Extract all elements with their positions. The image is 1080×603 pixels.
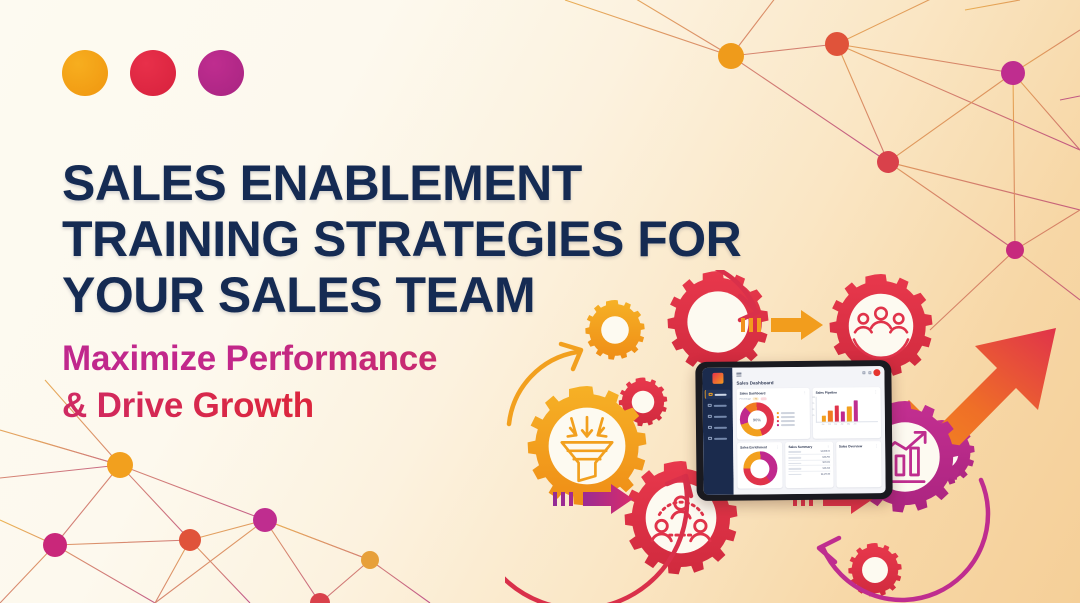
sales-pipeline-card[interactable]: Sales Pipeline ⋮ 100 75 50 25: [813, 387, 882, 439]
bar: [822, 415, 826, 422]
donut-legend: [777, 412, 795, 427]
filter-chip-comparison[interactable]: [761, 397, 767, 400]
x-tick: Feb: [827, 424, 831, 426]
brand-dot-orange: [62, 50, 108, 96]
x-tick: Jan: [821, 424, 825, 426]
sales-dashboard-card[interactable]: Sales Dashboard ⋮ Percentage % 90%: [737, 388, 811, 440]
bar-chart-x-labels: Jan Feb Mar Apr May Jun: [816, 423, 878, 426]
x-tick: Mar: [834, 424, 838, 426]
dashboard-topbar: [736, 369, 880, 378]
card-menu-icon[interactable]: ⋮: [803, 391, 807, 394]
gear-small-orange: [585, 300, 644, 360]
x-tick: Apr: [840, 423, 844, 425]
cell-value: $60,041: [822, 462, 830, 464]
sidebar-item-label: [713, 426, 727, 428]
card-menu-icon[interactable]: ⋮: [826, 445, 830, 448]
gear-team-back: [668, 271, 769, 372]
card-title: Sales Overview: [839, 444, 862, 448]
dashboard-sidebar: [702, 368, 733, 495]
tablet-device: Sales Dashboard Sales Dashboard ⋮ Percen…: [695, 360, 892, 501]
analysis-icon: [708, 415, 712, 419]
tablet-screen: Sales Dashboard Sales Dashboard ⋮ Percen…: [702, 366, 885, 495]
table-row: $4,599.00: [789, 451, 830, 455]
bar: [854, 400, 858, 421]
card-menu-icon[interactable]: ⋮: [874, 391, 878, 394]
table-row: $89,750: [789, 456, 830, 460]
donut-center-label: 90%: [753, 417, 761, 422]
dashboard-main: Sales Dashboard Sales Dashboard ⋮ Percen…: [732, 366, 885, 495]
dashboard-row-1: Sales Dashboard ⋮ Percentage % 90%: [737, 387, 882, 440]
cell-value: $4,599.00: [821, 451, 830, 453]
table-row: $60,041: [789, 462, 830, 466]
card-title: Sales Dashboard: [740, 391, 766, 395]
topbar-tools: [862, 369, 880, 376]
table-row: $6,673.50: [789, 473, 830, 476]
x-tick: Jun: [853, 423, 857, 425]
sales-overview-card[interactable]: Sales Overview ⋮: [836, 441, 882, 487]
y-tick: 25: [812, 415, 814, 417]
filter-chip-percentage[interactable]: %: [753, 397, 759, 400]
card-title: Sales Pipeline: [816, 391, 837, 395]
card-menu-icon[interactable]: ⋮: [776, 446, 780, 449]
legend-item: [777, 412, 795, 415]
dashboard-row-2: Sales Enrichment ⋮ Sales Summary ⋮ $4,59…: [737, 441, 881, 489]
card-filters: Percentage %: [740, 397, 807, 401]
legend-item: [777, 416, 795, 419]
app-logo-icon: [712, 373, 723, 384]
sidebar-item-label: [714, 393, 727, 395]
legend-item: [777, 420, 795, 423]
brand-dot-red: [130, 50, 176, 96]
banner-canvas: SALES ENABLEMENT TRAINING STRATEGIES FOR…: [0, 0, 1080, 603]
sidebar-item-label: [713, 404, 727, 406]
page-subtitle: Maximize Performance & Drive Growth: [62, 335, 437, 429]
headline-line-1: SALES ENABLEMENT: [62, 155, 852, 211]
sidebar-item-win-loss-analysis[interactable]: [705, 412, 731, 421]
x-tick: May: [846, 423, 850, 425]
donut-chart-wrap: 90%: [740, 402, 807, 437]
card-title: Sales Summary: [788, 445, 812, 449]
card-menu-icon[interactable]: ⋮: [875, 445, 879, 448]
legend-item: [777, 424, 795, 427]
brand-dots-row: [62, 50, 244, 96]
bell-icon[interactable]: [868, 371, 871, 374]
users-icon: [708, 437, 712, 441]
dashboard-page-title: Sales Dashboard: [736, 379, 880, 386]
donut-chart-sales: 90%: [740, 402, 774, 436]
donut-chart-enrichment: [743, 451, 777, 485]
bar: [834, 405, 838, 422]
y-tick: 75: [812, 403, 814, 405]
bar-chart-pipeline: 100 75 50 25: [816, 396, 878, 423]
sidebar-item-label: [714, 437, 728, 439]
table-row: $24,312: [789, 468, 830, 472]
hamburger-icon[interactable]: [736, 372, 741, 376]
sidebar-item-performance[interactable]: [705, 423, 731, 432]
sales-summary-card[interactable]: Sales Summary ⋮ $4,599.00 $89,750 $60,04…: [785, 442, 833, 488]
sidebar-item-sales-rates[interactable]: [705, 401, 731, 410]
gauge-icon: [708, 426, 712, 430]
chart-icon: [708, 404, 712, 408]
card-title: Sales Enrichment: [740, 445, 767, 449]
bar: [841, 411, 845, 421]
overview-progress-list: [839, 450, 878, 456]
sidebar-item-team-stats[interactable]: [705, 434, 731, 443]
bar: [828, 410, 832, 421]
sidebar-item-label: [713, 415, 727, 417]
grid-icon[interactable]: [862, 371, 865, 374]
y-tick: 100: [812, 397, 815, 399]
y-tick: 50: [812, 409, 814, 411]
cell-value: $89,750: [822, 456, 830, 458]
summary-table: $4,599.00 $89,750 $60,041 $24,312 $6,673…: [789, 451, 831, 477]
user-avatar[interactable]: [873, 369, 880, 376]
headline-line-2: TRAINING STRATEGIES FOR: [62, 211, 852, 267]
brand-dot-magenta: [198, 50, 244, 96]
filter-label: Percentage: [740, 398, 751, 400]
subtitle-line-1: Maximize Performance: [62, 335, 437, 382]
cell-value: $24,312: [823, 468, 831, 470]
dashboard-icon: [709, 393, 713, 397]
sidebar-item-dashboard[interactable]: [705, 390, 731, 399]
bar: [847, 406, 851, 422]
cell-value: $6,673.50: [821, 473, 830, 475]
sales-enrichment-card[interactable]: Sales Enrichment ⋮: [737, 442, 783, 488]
subtitle-line-2: & Drive Growth: [62, 382, 437, 429]
